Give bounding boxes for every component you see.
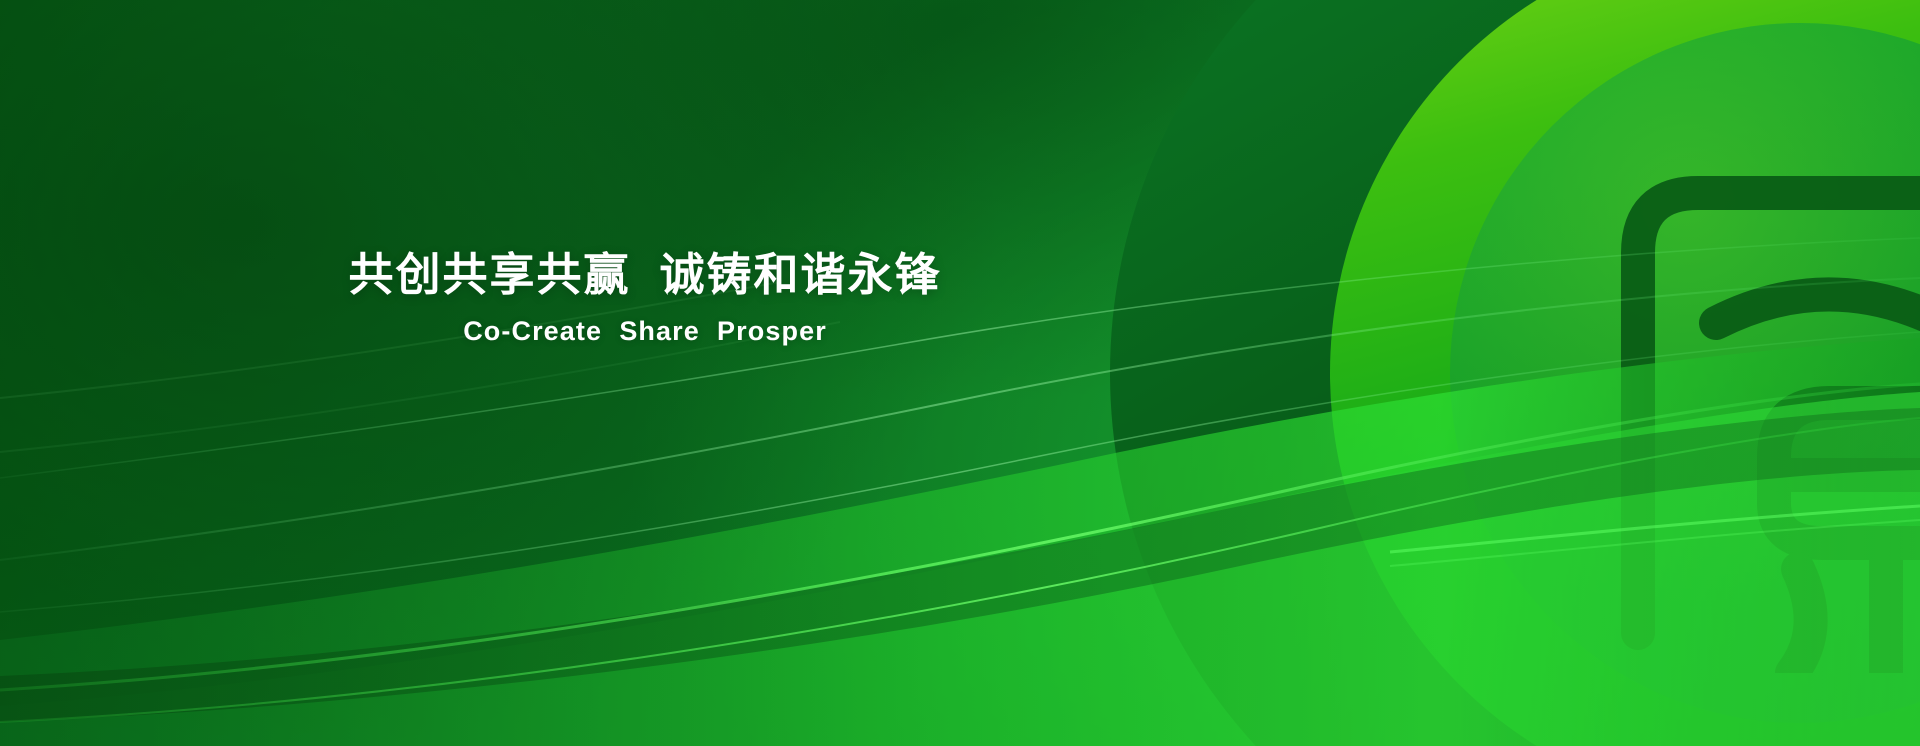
promo-banner: 共创共享共赢 诚铸和谐永锋 Co-Create Share Prosper xyxy=(0,0,1920,746)
brand-character-watermark-icon xyxy=(1530,73,1920,673)
circle-decoration-group xyxy=(1660,0,1920,746)
banner-subtitle: Co-Create Share Prosper xyxy=(0,315,1290,347)
banner-title: 共创共享共赢 诚铸和谐永锋 xyxy=(0,248,1290,301)
headline-text-block: 共创共享共赢 诚铸和谐永锋 Co-Create Share Prosper xyxy=(0,248,1290,347)
